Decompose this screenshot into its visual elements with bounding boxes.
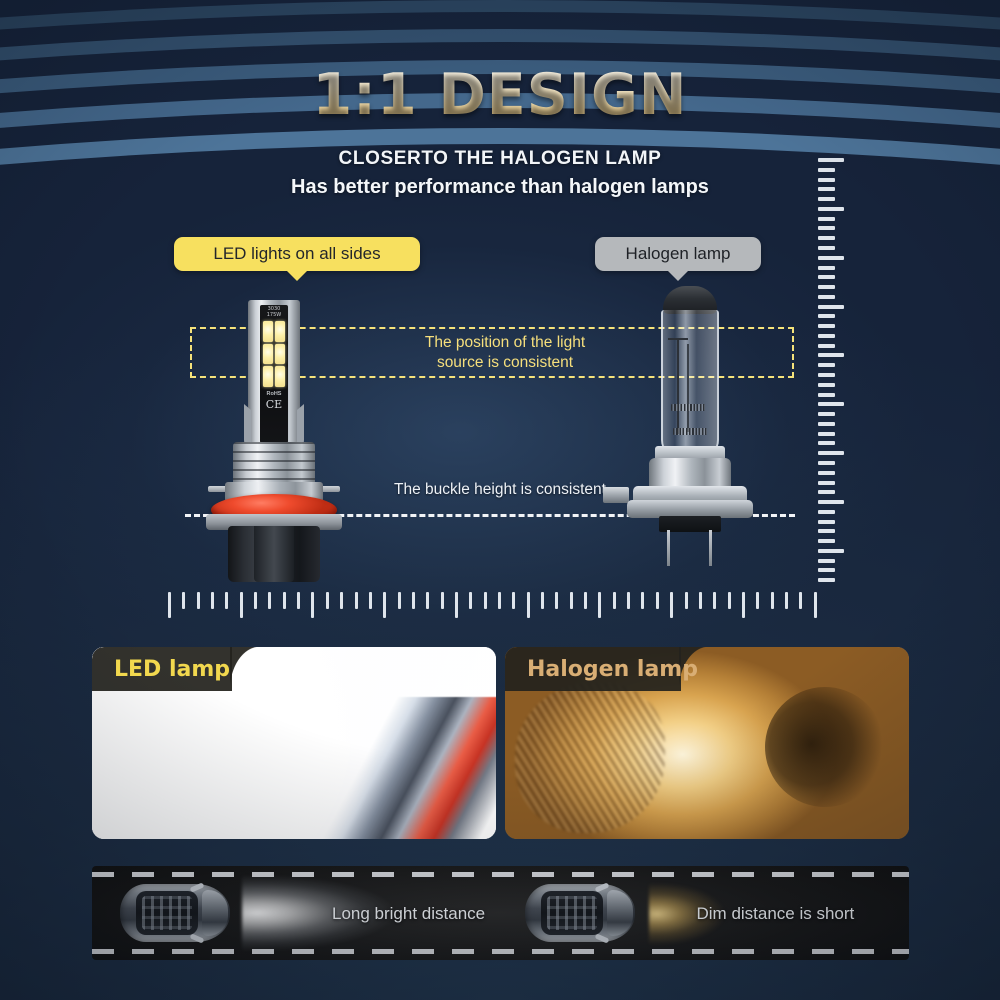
led-beam-scene: Long bright distance [92,866,501,960]
halogen-pin-left [667,530,670,566]
ruler-tick-minor [818,568,835,572]
ruler-tick-minor [641,592,644,609]
ruler-tick-minor [627,592,630,609]
ruler-tick-major [311,592,314,618]
ruler-tick-minor [818,510,835,514]
ruler-tick-minor [498,592,501,609]
ruler-tick-minor [555,592,558,609]
halogen-filament-lead-secondary [687,344,689,432]
ruler-tick-minor [254,592,257,609]
halogen-beam-scene: Dim distance is short [501,866,910,960]
ruler-tick-minor [656,592,659,609]
ruler-tick-major [818,158,844,162]
light-source-line-1: The position of the light [390,333,620,353]
ruler-tick-major [818,500,844,504]
ruler-tick-minor [818,226,835,230]
light-source-line-2: source is consistent [390,353,620,373]
led-emitter [275,344,285,365]
ruler-tick-minor [268,592,271,609]
led-emitter [275,321,285,342]
ruler-tick-minor [225,592,228,609]
led-beam-label: Long bright distance [332,904,485,924]
ruler-tick-major [742,592,745,618]
ruler-tick-minor [584,592,587,609]
ruler-tick-minor [818,285,835,289]
ruler-tick-minor [699,592,702,609]
ruler-tick-major [814,592,817,618]
ruler-tick-major [818,256,844,260]
ruler-tick-minor [818,461,835,465]
led-emitter [263,321,273,342]
ruler-tick-minor [326,592,329,609]
halogen-panel-label: Halogen lamp [505,657,698,682]
ruler-tick-major [240,592,243,618]
ruler-tick-minor [211,592,214,609]
ruler-tick-minor [771,592,774,609]
halogen-filament-lead [677,338,679,434]
ruler-tick-minor [426,592,429,609]
ruler-tick-minor [441,592,444,609]
rohs-mark: RoHS [260,391,288,397]
halogen-filament-coil-upper [671,404,705,411]
ruler-tick-minor [297,592,300,609]
led-connector-base [228,526,320,582]
ruler-tick-minor [818,363,835,367]
ruler-tick-minor [818,432,835,436]
ruler-tick-minor [818,275,835,279]
ruler-tick-minor [685,592,688,609]
ruler-tick-major [818,353,844,357]
halogen-beam-label: Dim distance is short [697,904,855,924]
ruler-tick-minor [182,592,185,609]
ruler-tick-minor [541,592,544,609]
vertical-ruler [818,158,860,588]
ruler-tick-minor [818,295,835,299]
halogen-glass-envelope [661,310,719,458]
ruler-tick-minor [818,422,835,426]
ruler-tick-minor [469,592,472,609]
ruler-tick-minor [818,314,835,318]
ruler-tick-minor [799,592,802,609]
car-top-view-halogen [525,884,635,942]
ruler-tick-minor [818,520,835,524]
ruler-tick-minor [818,539,835,543]
page-title: 1:1 DESIGN [0,62,1000,128]
car-interior [547,896,597,930]
ruler-tick-minor [785,592,788,609]
ruler-tick-minor [412,592,415,609]
horizontal-ruler [168,592,828,622]
led-panel-label: LED lamp [92,657,230,682]
led-emitter [263,344,273,365]
ruler-tick-major [527,592,530,618]
ruler-tick-minor [613,592,616,609]
ruler-tick-minor [818,393,835,397]
ruler-tick-minor [340,592,343,609]
ruler-tick-minor [713,592,716,609]
ruler-tick-minor [197,592,200,609]
ruler-tick-minor [818,490,835,494]
ruler-tick-major [818,402,844,406]
led-lamp-photo-panel: LED lamp [92,647,496,839]
ruler-tick-minor [570,592,573,609]
ruler-tick-major [818,451,844,455]
ruler-tick-minor [818,168,835,172]
ruler-tick-minor [818,246,835,250]
led-chip-spec-line-2: 175W [260,313,288,319]
ruler-tick-minor [818,197,835,201]
callout-halogen-lamp: Halogen lamp [595,237,761,271]
halogen-lamp-photo-panel: Halogen lamp [505,647,909,839]
halogen-panel-ribbon: Halogen lamp [505,647,681,691]
led-emitter-grid [263,321,285,387]
ruler-tick-major [670,592,673,618]
ruler-tick-minor [818,334,835,338]
ruler-tick-minor [818,559,835,563]
beam-comparison-strip: Long bright distance Dim distance is sho… [92,866,909,960]
ruler-tick-major [818,549,844,553]
halogen-pin-right [709,530,712,566]
led-panel-ribbon: LED lamp [92,647,232,691]
ruler-tick-major [455,592,458,618]
halogen-filament-coil-lower [673,428,707,435]
ruler-tick-minor [818,529,835,533]
led-emitter [263,366,273,387]
callout-halogen-label: Halogen lamp [626,244,731,264]
ruler-tick-minor [818,344,835,348]
led-emitter [275,366,285,387]
ruler-tick-minor [728,592,731,609]
ruler-tick-minor [283,592,286,609]
ruler-tick-minor [355,592,358,609]
ruler-tick-minor [818,481,835,485]
ruler-tick-major [168,592,171,618]
ruler-tick-minor [818,383,835,387]
halogen-bulb-illustration [625,286,755,568]
ruler-tick-minor [818,471,835,475]
led-bulb-illustration: 3030 175W RoHS CE [186,300,362,582]
ruler-tick-minor [369,592,372,609]
ruler-tick-major [818,305,844,309]
light-source-annotation: The position of the light source is cons… [390,333,620,373]
ruler-tick-minor [818,578,835,582]
ruler-tick-minor [818,441,835,445]
ruler-tick-minor [818,187,835,191]
infographic-canvas: 1:1 DESIGN CLOSERTO THE HALOGEN LAMP Has… [0,0,1000,1000]
ruler-tick-major [383,592,386,618]
ruler-tick-major [818,207,844,211]
led-chip-spec: 3030 175W [260,307,288,318]
ruler-tick-minor [818,217,835,221]
ruler-tick-minor [818,412,835,416]
ruler-tick-minor [818,373,835,377]
ruler-tick-minor [818,266,835,270]
ruler-tick-minor [484,592,487,609]
ruler-tick-major [598,592,601,618]
callout-led-label: LED lights on all sides [213,244,380,264]
car-interior [142,896,192,930]
ruler-tick-minor [818,236,835,240]
ruler-tick-minor [818,324,835,328]
car-top-view-led [120,884,230,942]
callout-led-lights: LED lights on all sides [174,237,420,271]
ruler-tick-minor [756,592,759,609]
ruler-tick-minor [398,592,401,609]
ruler-tick-minor [512,592,515,609]
ruler-tick-minor [818,178,835,182]
